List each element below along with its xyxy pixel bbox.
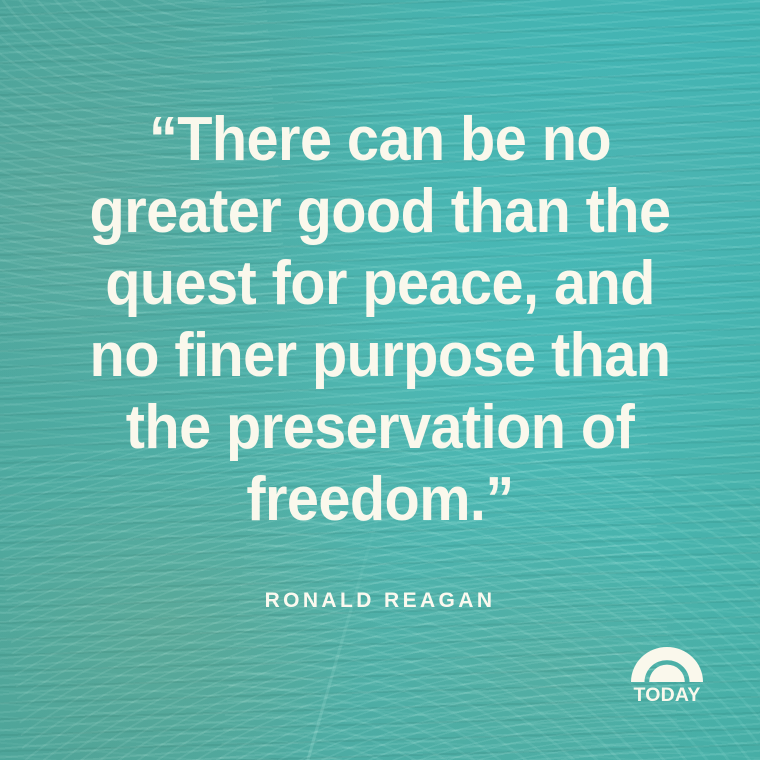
quote-text: “There can be no greater good than the q… [82, 104, 677, 536]
quote-line-1: “There can be no [82, 104, 677, 176]
quote-line-6: freedom.” [82, 464, 677, 536]
today-logo[interactable]: TODAY [631, 647, 703, 703]
quote-line-5: the preservation of [82, 392, 677, 464]
quote-attribution: RONALD REAGAN [0, 589, 760, 613]
quote-line-2: greater good than the [82, 176, 677, 248]
card-content: “There can be no greater good than the q… [0, 0, 760, 760]
today-sunrise-arcs-icon [631, 647, 703, 682]
quote-line-3: quest for peace, and [82, 248, 677, 320]
today-wordmark: TODAY [633, 684, 700, 703]
quote-card: “There can be no greater good than the q… [0, 0, 760, 760]
quote-line-4: no finer purpose than [82, 320, 677, 392]
